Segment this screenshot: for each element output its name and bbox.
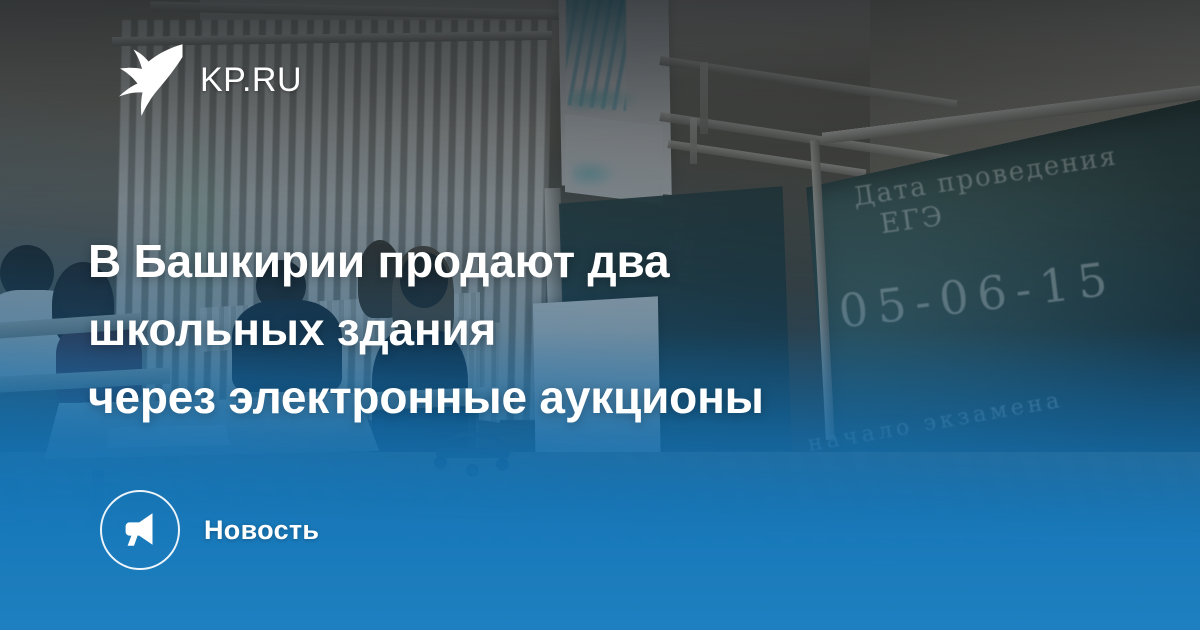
brand-logo[interactable]: KP.RU xyxy=(110,42,302,118)
status-badge[interactable]: Новость xyxy=(100,490,319,570)
megaphone-icon xyxy=(119,509,161,551)
headline-line: В Башкирии продают два xyxy=(88,227,988,295)
headline-line: через электронные аукционы xyxy=(88,363,988,431)
swallow-bird-icon xyxy=(110,42,184,118)
social-share-card: Дата проведения ЕГЭ 05-06-15 начало экза… xyxy=(0,0,1200,630)
card-content: KP.RU В Башкирии продают два школьных зд… xyxy=(0,0,1200,630)
badge-label: Новость xyxy=(204,515,319,546)
page-title: В Башкирии продают два школьных здания ч… xyxy=(88,227,988,431)
headline-line: школьных здания xyxy=(88,295,988,363)
badge-icon-circle xyxy=(100,490,180,570)
brand-name: KP.RU xyxy=(200,63,302,97)
